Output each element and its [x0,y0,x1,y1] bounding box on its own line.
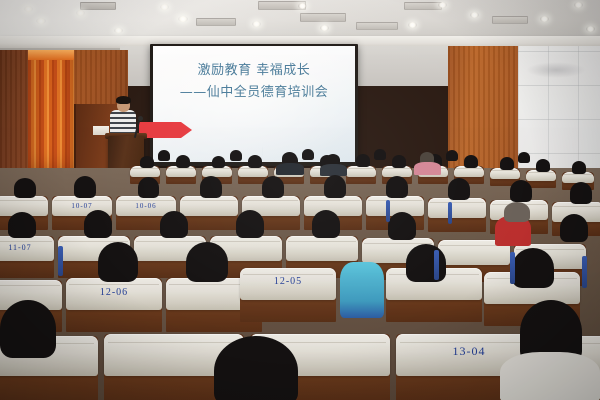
attendee-shoulders [414,162,441,175]
ceiling-vent [80,2,116,10]
attendee-head [262,176,284,198]
seat-armrest [386,200,390,222]
ceiling-downlight [24,6,33,12]
seat-number: 11-07 [0,243,54,252]
ceiling-downlight [252,21,261,27]
attendee-head [312,210,340,238]
curtain-valance [28,50,74,60]
attendee-head [84,210,112,238]
microphone-head [138,116,143,121]
attendee-head [176,155,190,168]
seat-cover [286,236,358,261]
attendee-head [236,210,264,238]
seat-number: 12-05 [240,276,336,287]
ceiling-downlight [320,25,329,31]
ceiling-vent [492,16,528,24]
slide-text-block: 激励教育 幸福成长 ——仙中全员德育培训会 [153,62,355,103]
seat-number: 10-07 [52,202,112,210]
attendee-head [186,242,228,282]
attendee-head [8,212,36,238]
attendee-head [500,157,514,170]
attendee-head [448,178,470,200]
attendee-head [464,155,478,168]
ceiling-downlight [574,2,583,8]
auditorium-scene: 激励教育 幸福成长 ——仙中全员德育培训会 [0,0,600,400]
attendee-head [536,159,550,172]
attendee-head [446,150,458,161]
attendee-head [392,155,406,168]
ceiling-vent [196,18,236,26]
seat-number: 10-06 [116,202,176,210]
attendee-head [374,149,386,160]
ceiling-downlight [298,3,307,9]
attendee-head [510,180,532,202]
attendee-shoulders [500,352,600,400]
foreground-attendee-head [214,336,298,400]
attendee-head [74,176,96,198]
attendee-head [160,211,188,238]
attendee-head [14,178,36,198]
attendee-head [0,300,56,358]
wall-stain [526,62,586,78]
ceiling-vent [404,2,442,10]
speaker-hair [116,96,131,104]
ceiling-downlight [114,28,123,33]
attendee-head [248,155,262,168]
seat-armrest [448,202,452,224]
attendee-head [138,177,159,198]
attendee-head [98,242,138,282]
ceiling-downlight [178,16,188,22]
ceiling-vent [300,13,346,22]
attendee-head [512,248,554,288]
ceiling-downlight [586,26,595,32]
ceiling-downlight [408,22,417,28]
slide-title-line1: 激励教育 幸福成长 [153,62,355,81]
attendee-head [504,202,530,222]
attendee-head [158,150,170,161]
seat-cover [428,198,486,218]
attendee-head [230,150,242,161]
ceiling-downlight [36,18,46,24]
attendee-shoulders [276,163,304,175]
seat-number: 12-06 [66,287,162,298]
attendee-head [518,152,530,163]
attendee-head [356,154,370,167]
attendee-head [212,156,225,168]
attendee-head [324,175,346,198]
seat-armrest [510,252,515,284]
attendee-head [572,161,586,174]
ceiling-downlight [160,4,169,10]
ceiling-downlight [540,16,549,22]
attendee-head [570,182,592,204]
seat-armrest [58,246,63,276]
ceiling-vent [356,22,398,30]
seat-cover [180,196,238,216]
ceiling-downlight [76,10,85,16]
attendee-head [302,149,314,160]
attendee-head [388,212,416,240]
cyan-shirt-attendee [340,262,384,318]
attendee-head [386,176,408,198]
attendee-head [140,156,154,168]
ceiling-downlight [470,12,479,18]
seat-armrest [582,256,587,288]
ceiling-downlight [438,2,447,8]
slide-title-line2: ——仙中全员德育培训会 [153,84,355,103]
seat-armrest [434,250,439,280]
attendee-head [560,214,588,242]
attendee-head [200,176,222,198]
attendee-head [406,244,446,282]
